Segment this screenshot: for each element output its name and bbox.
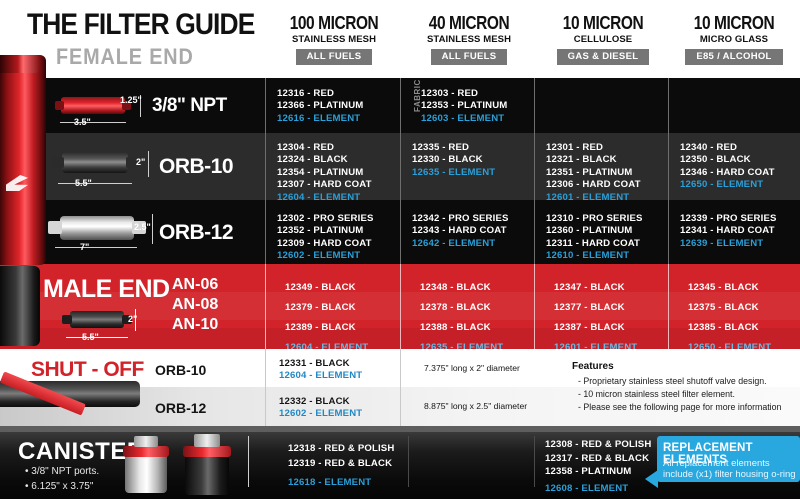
code-item: 12360 - PLATINUM (546, 225, 643, 237)
code-list-col2: 12310 - PRO SERIES 12360 - PLATINUM 1231… (546, 213, 643, 263)
column-micron: 10 MICRON (546, 14, 660, 33)
col-divider (668, 78, 669, 133)
code-item: 12346 - HARD COAT (680, 167, 775, 179)
col-divider (400, 78, 401, 133)
column-fuel-badge: ALL FUELS (431, 49, 508, 65)
page-header: THE FILTER GUIDE FEMALE END 100 MICRON S… (0, 0, 800, 78)
filter-photo-npt-endcap-left (55, 101, 64, 110)
code-item: 12348 - BLACK (420, 278, 503, 298)
column-fuel-badge: GAS & DIESEL (557, 49, 650, 65)
column-micron: 40 MICRON (412, 14, 526, 33)
code-item-element: 12616 - ELEMENT (277, 113, 363, 125)
code-item: 12316 - RED (277, 88, 363, 100)
col-divider (265, 200, 266, 264)
female-row-npt: 3.5" 1.25" 3/8" NPT FABRIC 12316 - RED 1… (0, 78, 800, 133)
code-item: 12335 - RED (412, 142, 495, 154)
code-item: 12375 - BLACK (688, 298, 771, 318)
dimension-length: 3.5" (74, 117, 91, 127)
code-item: 12379 - BLACK (285, 298, 368, 318)
row-label-orb12: ORB-12 (159, 221, 233, 245)
col-divider (248, 436, 249, 487)
filter-photo-orb12 (60, 216, 134, 240)
code-item: 12345 - BLACK (688, 278, 771, 298)
code-item: 12340 - RED (680, 142, 775, 154)
canister-code-list-col1: 12318 - RED & POLISH 12319 - RED & BLACK… (288, 441, 394, 490)
shutoff-row-label-orb10: ORB-10 (155, 362, 206, 378)
code-item-element: 12618 - ELEMENT (288, 475, 394, 490)
code-item: 12341 - HARD COAT (680, 225, 777, 237)
canister-photo-polish-collar (123, 446, 169, 457)
code-item: 12366 - PLATINUM (277, 100, 363, 112)
canister-photo-polish-cap-icon (134, 436, 158, 447)
column-micron: 10 MICRON (677, 14, 791, 33)
code-item-element: 12602 - ELEMENT (279, 408, 362, 420)
code-list-col0: 12349 - BLACK 12379 - BLACK 12389 - BLAC… (285, 278, 368, 358)
code-item: 12358 - PLATINUM (545, 465, 651, 479)
shutoff-section: SHUT - OFF ORB-10 ORB-12 12331 - BLACK 1… (0, 349, 800, 426)
dimension-line-dia (148, 151, 149, 177)
male-end-title: MALE END (43, 275, 170, 304)
code-item: 12301 - RED (546, 142, 641, 154)
column-media: MICRO GLASS (668, 33, 800, 46)
code-item: 12318 - RED & POLISH (288, 441, 394, 456)
shutoff-code-list-orb10: 12331 - BLACK 12604 - ELEMENT (279, 358, 362, 383)
code-item: 12388 - BLACK (420, 318, 503, 338)
code-item-element: 12602 - ELEMENT (277, 250, 374, 262)
code-item: 12349 - BLACK (285, 278, 368, 298)
shutoff-title: SHUT - OFF (31, 358, 144, 382)
code-list-col0: 12302 - PRO SERIES 12352 - PLATINUM 1230… (277, 213, 374, 263)
code-item: 12387 - BLACK (554, 318, 637, 338)
male-size-label-an08: AN-08 (172, 296, 218, 314)
black-fitting-photo (0, 266, 40, 346)
code-list-col2: 12347 - BLACK 12377 - BLACK 12387 - BLAC… (554, 278, 637, 358)
col-divider (400, 264, 401, 349)
code-item-element: 12603 - ELEMENT (421, 113, 507, 125)
code-item: 12352 - PLATINUM (277, 225, 374, 237)
filter-photo-male (70, 311, 124, 328)
code-item: 12302 - PRO SERIES (277, 213, 374, 225)
code-item: 12331 - BLACK (279, 358, 362, 370)
dimension-line-length (60, 122, 126, 123)
filter-guide-page: THE FILTER GUIDE FEMALE END 100 MICRON S… (0, 0, 800, 499)
row-label-orb10: ORB-10 (159, 155, 233, 179)
code-item: 12324 - BLACK (277, 154, 395, 166)
col-divider (534, 264, 535, 349)
col-divider (534, 78, 535, 133)
dimension-line-length (55, 247, 137, 248)
code-item-element: 12610 - ELEMENT (546, 250, 643, 262)
canister-bullet: • 6.125" x 3.75" (25, 481, 93, 492)
col-divider (265, 264, 266, 349)
code-list-col1: 12348 - BLACK 12378 - BLACK 12388 - BLAC… (420, 278, 503, 358)
code-item-element: 12650 - ELEMENT (680, 179, 775, 191)
filter-photo-npt (61, 97, 125, 114)
canister-photo-black-collar (183, 446, 231, 457)
code-item: 12330 - BLACK (412, 154, 495, 166)
code-item: 12354 - PLATINUM (277, 167, 395, 179)
replacement-callout-line1: All replacement elements (663, 458, 770, 470)
column-micron: 100 MICRON (277, 14, 391, 33)
code-item: 12353 - PLATINUM (421, 100, 507, 112)
page-title: THE FILTER GUIDE (27, 8, 254, 42)
code-list-col0: 12316 - RED 12366 - PLATINUM 12616 - ELE… (277, 88, 363, 125)
dimension-diameter: 1.25" (120, 95, 142, 105)
col-divider (265, 349, 266, 426)
dimension-length: 7" (80, 242, 89, 252)
code-item-element: 12639 - ELEMENT (680, 238, 777, 250)
col-divider (265, 78, 266, 133)
col-divider (668, 264, 669, 349)
female-row-orb10: 5.5" 2" ORB-10 12304 - RED 12324 - BLACK… (0, 133, 800, 200)
dimension-diameter: 2" (136, 157, 145, 167)
code-item: 12321 - BLACK (546, 154, 641, 166)
code-list-col1: 12303 - RED 12353 - PLATINUM 12603 - ELE… (421, 88, 507, 125)
feature-item: - Please see the following page for more… (578, 402, 781, 412)
code-item: 12389 - BLACK (285, 318, 368, 338)
shutoff-code-list-orb12: 12332 - BLACK 12602 - ELEMENT (279, 396, 362, 421)
col-divider (265, 133, 266, 200)
filter-photo-orb10-endcap-left (52, 157, 64, 168)
shutoff-row-label-orb12: ORB-12 (155, 400, 206, 416)
filter-photo-male-endcap-left (62, 315, 72, 324)
dimension-line-dia (152, 214, 153, 244)
code-item: 12347 - BLACK (554, 278, 637, 298)
filter-photo-orb10 (62, 152, 128, 173)
shutoff-dimension-orb12: 8.875" long x 2.5" diameter (424, 401, 527, 411)
code-item: 12350 - BLACK (680, 154, 775, 166)
features-title: Features (572, 361, 614, 372)
col-divider (534, 133, 535, 200)
shutoff-dimension-orb10: 7.375" long x 2" diameter (424, 363, 520, 373)
code-item: 12303 - RED (421, 88, 507, 100)
code-list-col3: 12339 - PRO SERIES 12341 - HARD COAT 126… (680, 213, 777, 250)
red-canister-photo (0, 55, 46, 265)
code-item: 12307 - HARD COAT (277, 179, 395, 191)
dimension-line-length (58, 183, 132, 184)
code-item: 12309 - HARD COAT (277, 238, 374, 250)
code-list-col1: 12342 - PRO SERIES 12343 - HARD COAT 126… (412, 213, 509, 250)
code-item: 12311 - HARD COAT (546, 238, 643, 250)
column-fuel-badge: ALL FUELS (296, 49, 373, 65)
page-subtitle: FEMALE END (56, 44, 194, 70)
male-size-label-an10: AN-10 (172, 316, 218, 334)
code-list-col2: 12301 - RED 12321 - BLACK 12351 - PLATIN… (546, 142, 641, 204)
code-item: 12342 - PRO SERIES (412, 213, 509, 225)
col-divider (400, 349, 401, 426)
column-header-3: 10 MICRON MICRO GLASS E85 / ALCOHOL (668, 14, 800, 65)
dimension-length: 5.5" (75, 178, 92, 188)
canister-bullet: • 3/8" NPT ports. (25, 466, 99, 477)
column-header-2: 10 MICRON CELLULOSE GAS & DIESEL (537, 14, 669, 65)
code-item: 12343 - HARD COAT (412, 225, 509, 237)
col-divider (668, 133, 669, 200)
female-row-orb12: 7" 2.5" ORB-12 12302 - PRO SERIES 12352 … (0, 200, 800, 264)
column-media: CELLULOSE (537, 33, 669, 46)
code-item: 12378 - BLACK (420, 298, 503, 318)
dimension-diameter: 2.5" (134, 222, 151, 232)
row-label-npt: 3/8" NPT (152, 95, 227, 117)
replacement-elements-callout: REPLACEMENT ELEMENTS All replacement ele… (657, 436, 800, 482)
code-item-element: 12604 - ELEMENT (279, 370, 362, 382)
code-item: 12310 - PRO SERIES (546, 213, 643, 225)
canister-section: CANISTER • 3/8" NPT ports. • 6.125" x 3.… (0, 432, 800, 499)
column-fuel-badge: E85 / ALCOHOL (685, 49, 782, 65)
feature-item: - 10 micron stainless steel filter eleme… (578, 389, 735, 399)
col-divider (400, 133, 401, 200)
code-item: 12385 - BLACK (688, 318, 771, 338)
code-item: 12317 - RED & BLACK (545, 452, 651, 466)
dimension-diameter: 2" (128, 314, 137, 324)
column-media: STAINLESS MESH (403, 33, 535, 46)
dimension-length: 5.5" (82, 332, 99, 342)
code-item: 12351 - PLATINUM (546, 167, 641, 179)
male-end-section: MALE END 5.5" 2" AN-06 AN-08 AN-10 12349… (0, 264, 800, 349)
code-item: 12304 - RED (277, 142, 395, 154)
code-item: 12306 - HARD COAT (546, 179, 641, 191)
column-header-1: 40 MICRON STAINLESS MESH ALL FUELS (403, 14, 535, 65)
code-item: 12308 - RED & POLISH (545, 438, 651, 452)
feature-item: - Proprietary stainless steel shutoff va… (578, 376, 767, 386)
red-canister-cap (0, 55, 40, 73)
code-item: 12377 - BLACK (554, 298, 637, 318)
code-item-element: 12635 - ELEMENT (412, 167, 495, 179)
code-item: 12339 - PRO SERIES (680, 213, 777, 225)
male-size-label-an06: AN-06 (172, 276, 218, 294)
filter-photo-orb12-endcap-left (48, 221, 62, 234)
code-list-col3: 12345 - BLACK 12375 - BLACK 12385 - BLAC… (688, 278, 771, 358)
column-media: STAINLESS MESH (268, 33, 400, 46)
code-item: 12319 - RED & BLACK (288, 456, 394, 471)
code-item: 12332 - BLACK (279, 396, 362, 408)
canister-code-list-col3: 12308 - RED & POLISH 12317 - RED & BLACK… (545, 438, 651, 495)
col-divider (534, 436, 535, 487)
code-item-element: 12608 - ELEMENT (545, 482, 651, 496)
code-item-element: 12642 - ELEMENT (412, 238, 509, 250)
col-divider (408, 436, 409, 487)
code-list-col3: 12340 - RED 12350 - BLACK 12346 - HARD C… (680, 142, 775, 192)
col-divider (668, 200, 669, 264)
col-divider (534, 200, 535, 264)
col-divider (400, 200, 401, 264)
replacement-callout-line2: include (x1) filter housing o-ring (663, 469, 796, 481)
column-header-0: 100 MICRON STAINLESS MESH ALL FUELS (268, 14, 400, 65)
canister-photo-black-cap-icon (194, 434, 220, 447)
code-list-col1: 12335 - RED 12330 - BLACK 12635 - ELEMEN… (412, 142, 495, 179)
